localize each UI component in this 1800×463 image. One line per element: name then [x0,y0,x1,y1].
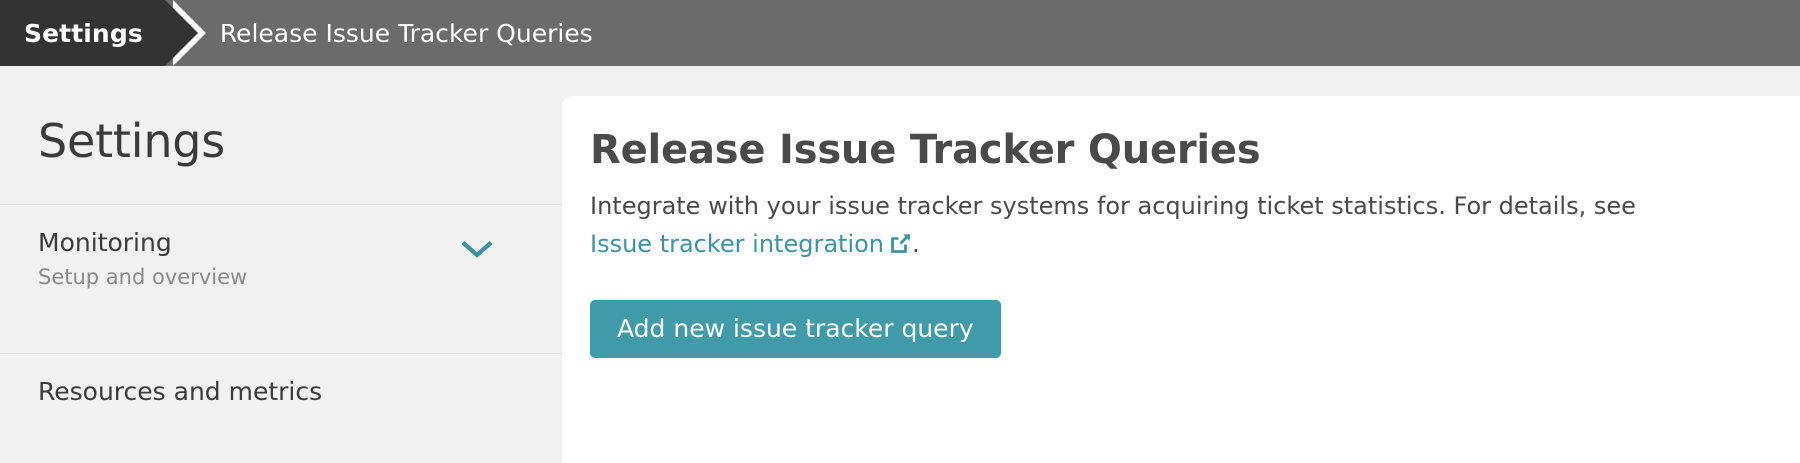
sidebar-item-monitoring-sublabel: Setup and overview [38,264,562,290]
issue-tracker-integration-link[interactable]: Issue tracker integration [590,230,912,258]
page-description-text-before: Integrate with your issue tracker system… [590,192,1636,220]
sidebar-item-resources-and-metrics[interactable]: Resources and metrics [0,354,562,442]
issue-tracker-integration-link-label: Issue tracker integration [590,230,884,258]
sidebar: Settings Monitoring Setup and overview R… [0,66,562,463]
page-description: Integrate with your issue tracker system… [590,187,1740,264]
chevron-down-icon[interactable] [462,241,492,259]
page-title: Release Issue Tracker Queries [590,128,1800,173]
add-new-issue-tracker-query-button[interactable]: Add new issue tracker query [590,300,1001,358]
external-link-icon [890,232,912,254]
body-region: Settings Monitoring Setup and overview R… [0,66,1800,463]
breadcrumb-item-settings[interactable]: Settings [0,0,165,66]
content-card: Release Issue Tracker Queries Integrate … [562,96,1800,463]
sidebar-title: Settings [0,66,562,164]
sidebar-item-monitoring[interactable]: Monitoring Setup and overview [0,205,562,313]
page-description-text-after: . [912,230,920,258]
sidebar-item-resources-and-metrics-label: Resources and metrics [38,376,562,407]
breadcrumb-settings-label: Settings [24,19,143,48]
settings-page: Settings Release Issue Tracker Queries S… [0,0,1800,463]
breadcrumb-item-current: Release Issue Tracker Queries [165,0,593,66]
breadcrumb-current-label: Release Issue Tracker Queries [220,19,593,48]
breadcrumb-chevron-icon [165,0,198,66]
breadcrumb: Settings Release Issue Tracker Queries [0,0,1800,66]
